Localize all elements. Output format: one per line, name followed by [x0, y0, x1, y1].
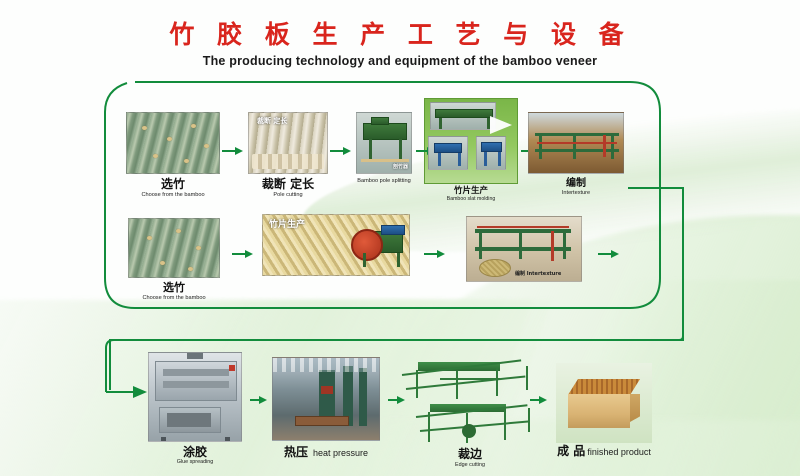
caption-cn: 选竹: [128, 282, 220, 294]
photo-pole-splitter: 剖竹器: [356, 112, 412, 174]
arrow-7: [598, 246, 620, 264]
caption-edge-cutting: 裁边 Edge cutting: [396, 448, 544, 469]
stage-heat-pressure[interactable]: 热压 heat pressure: [272, 357, 380, 459]
stage-pole-splitting[interactable]: 剖竹器 Bamboo pole splitting: [356, 112, 412, 184]
page-title-english: The producing technology and equipment o…: [0, 54, 800, 68]
arrow-8: [250, 392, 268, 410]
photo-glue-machine: [148, 352, 242, 442]
photo-slat-machine-left: [428, 136, 468, 170]
photo-overlay-text: 竹片生产: [269, 217, 305, 230]
stage-intertexture[interactable]: 编制 Intertexture: [528, 112, 624, 196]
photo-finished-product: [556, 363, 652, 443]
stage-choose-bamboo[interactable]: 选竹 Choose from the bamboo: [126, 112, 220, 198]
caption-en: finished product: [587, 448, 651, 458]
photo-pole-cutting: 裁断 定长: [248, 112, 328, 174]
caption-en: Choose from the bamboo: [128, 295, 220, 301]
arrow-5: [232, 246, 254, 264]
photo-bamboo-pile: [126, 112, 220, 174]
caption-cn: 编制: [528, 178, 624, 189]
caption-choose-bamboo: 选竹 Choose from the bamboo: [126, 178, 220, 198]
caption-choose-bamboo-2: 选竹 Choose from the bamboo: [128, 282, 220, 301]
caption-pole-splitting: Bamboo pole splitting: [356, 178, 412, 184]
photo-slat-machine-right: [476, 136, 506, 170]
caption-cn: 涂胶: [148, 446, 242, 459]
photo-press-hall: [272, 357, 380, 441]
stage-intertexture-2[interactable]: 编制 Intertexture: [466, 216, 582, 282]
caption-cn: 裁边: [396, 448, 544, 461]
caption-intertexture: 编制 Intertexture: [528, 178, 624, 196]
caption-heat-pressure: 热压 heat pressure: [272, 446, 380, 459]
caption-en: Bamboo slat molding: [424, 197, 518, 203]
stage-slat-production[interactable]: 竹片生产: [262, 214, 410, 276]
poster-canvas: 竹 胶 板 生 产 工 艺 与 设 备 The producing techno…: [0, 0, 800, 476]
inset-weave-sample: [479, 259, 511, 277]
photo-slat-machine-top: [430, 102, 496, 130]
caption-en: Edge cutting: [396, 463, 544, 469]
photo-slat-production: 竹片生产: [262, 214, 410, 276]
decor-paper-sheet: [490, 116, 512, 134]
title-block: 竹 胶 板 生 产 工 艺 与 设 备 The producing techno…: [0, 22, 800, 68]
stage-glue-spreading[interactable]: 涂胶 Glue spreading: [148, 352, 242, 466]
caption-en: heat pressure: [313, 449, 368, 459]
photo-overlay-text: 裁断 定长: [257, 116, 287, 126]
caption-finished-product: 成 品 finished product: [556, 445, 652, 458]
photo-overlay-text: 剖竹器: [393, 163, 408, 170]
caption-cn: 竹片生产: [424, 187, 518, 196]
caption-glue-spreading: 涂胶 Glue spreading: [148, 446, 242, 466]
caption-en: Pole cutting: [248, 192, 328, 198]
caption-en: Choose from the bamboo: [126, 192, 220, 198]
caption-en: Bamboo pole splitting: [356, 178, 412, 184]
arrow-10: [530, 392, 548, 410]
caption-cn: 选竹: [126, 178, 220, 191]
photo-intertexture-machine: [528, 112, 624, 174]
photo-edge-cutting-rigs: [396, 356, 544, 448]
rig-lower: [416, 402, 540, 446]
photo-intertexture-machine-2: 编制 Intertexture: [466, 216, 582, 282]
page-title-chinese: 竹 胶 板 生 产 工 艺 与 设 备: [0, 22, 800, 48]
photo-bamboo-pile-2: [128, 218, 220, 278]
stage-pole-cutting[interactable]: 裁断 定长 裁断 定长 Pole cutting: [248, 112, 328, 198]
caption-en: Glue spreading: [148, 460, 242, 466]
stage-edge-cutting[interactable]: 裁边 Edge cutting: [396, 356, 544, 469]
arrow-2: [330, 143, 352, 161]
photo-overlay-text: 编制 Intertexture: [515, 270, 561, 277]
stage-finished-product[interactable]: 成 品 finished product: [556, 363, 652, 458]
arrow-1: [222, 143, 244, 161]
rig-upper: [400, 358, 536, 400]
stage-slat-molding[interactable]: 竹片生产 Bamboo slat molding: [424, 98, 518, 203]
caption-pole-cutting: 裁断 定长 Pole cutting: [248, 178, 328, 198]
caption-cn: 成 品: [557, 445, 585, 458]
caption-cn: 热压: [284, 446, 308, 459]
photo-group-slat-molding: [424, 98, 518, 184]
caption-slat-molding: 竹片生产 Bamboo slat molding: [424, 187, 518, 203]
arrow-6: [424, 246, 446, 264]
caption-en: Intertexture: [528, 190, 624, 196]
stage-choose-bamboo-2[interactable]: 选竹 Choose from the bamboo: [128, 218, 220, 301]
caption-cn: 裁断 定长: [248, 178, 328, 191]
